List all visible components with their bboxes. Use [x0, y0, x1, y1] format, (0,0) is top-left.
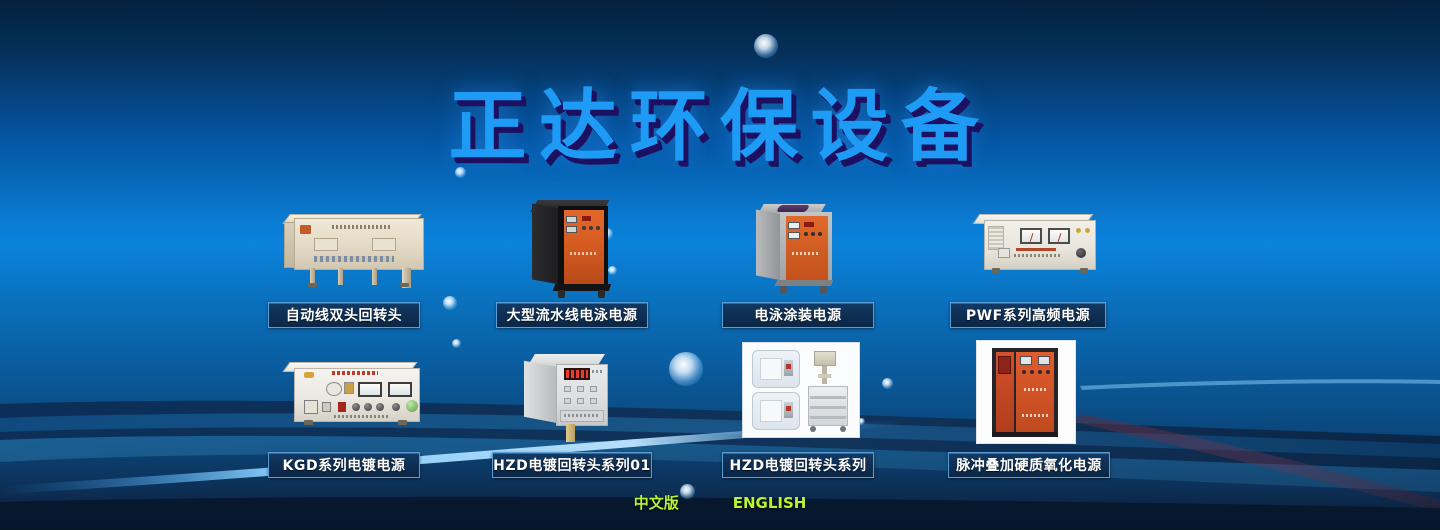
product-label-8[interactable]: 脉冲叠加硬质氧化电源: [948, 452, 1110, 478]
product-image-2: [530, 196, 618, 300]
product-label-4[interactable]: PWF系列高频电源: [950, 302, 1106, 328]
product-image-3: [754, 198, 838, 298]
language-link-english[interactable]: ENGLISH: [733, 494, 807, 512]
product-card-2[interactable]: 大型流水线电泳电源: [496, 196, 656, 332]
product-image-7: [742, 342, 860, 438]
product-image-8: [976, 340, 1076, 444]
product-image-1: [280, 212, 430, 290]
product-card-4[interactable]: PWF系列高频电源: [950, 210, 1126, 332]
product-label-6[interactable]: HZD电镀回转头系列01: [492, 452, 652, 478]
product-card-7[interactable]: HZD电镀回转头系列: [722, 342, 882, 482]
product-card-1[interactable]: 自动线双头回转头: [268, 212, 444, 332]
product-card-5[interactable]: KGD系列电镀电源: [268, 360, 444, 482]
product-card-3[interactable]: 电泳涂装电源: [722, 196, 874, 332]
page-title: 正达环保设备: [0, 64, 1440, 176]
product-label-1[interactable]: 自动线双头回转头: [268, 302, 420, 328]
product-image-5: [282, 360, 428, 436]
product-card-6[interactable]: HZD电镀回转头系列01: [492, 348, 652, 482]
language-link-chinese[interactable]: 中文版: [634, 492, 679, 513]
product-label-5[interactable]: KGD系列电镀电源: [268, 452, 420, 478]
product-image-4: [972, 210, 1104, 282]
language-bar: 中文版ENGLISH: [0, 492, 1440, 513]
splash-page: 正达环保设备 自动线双头回转头 大型流水线电泳电源: [0, 0, 1440, 530]
product-image-6: [522, 348, 614, 444]
product-card-8[interactable]: 脉冲叠加硬质氧化电源: [948, 340, 1124, 482]
product-label-3[interactable]: 电泳涂装电源: [722, 302, 874, 328]
product-label-2[interactable]: 大型流水线电泳电源: [496, 302, 648, 328]
product-label-7[interactable]: HZD电镀回转头系列: [722, 452, 874, 478]
